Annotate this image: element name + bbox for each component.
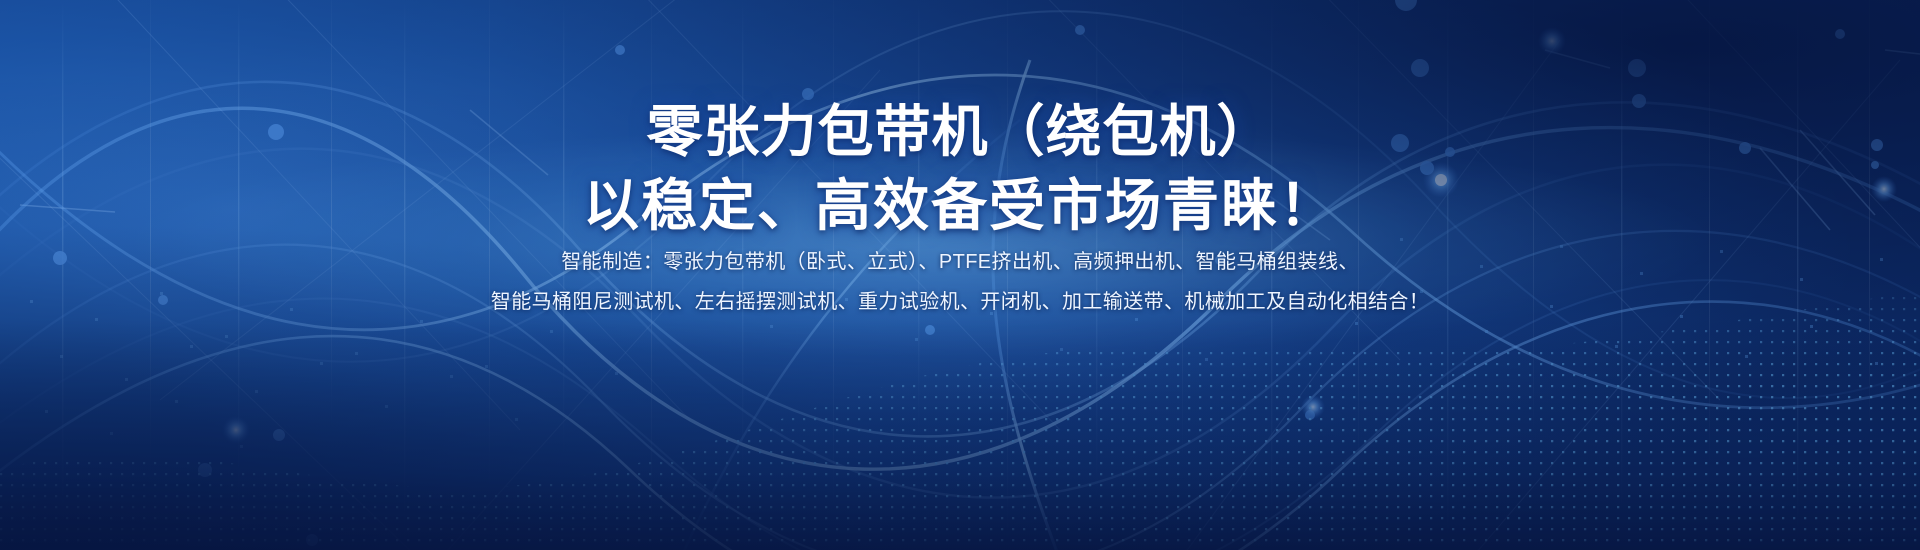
headline-line-2: 以稳定、高效备受市场青睐！ (0, 170, 1920, 242)
tech-banner: 零张力包带机（绕包机） 以稳定、高效备受市场青睐！ 智能制造：零张力包带机（卧式… (0, 0, 1920, 550)
subtitle-line-1: 智能制造：零张力包带机（卧式、立式）、PTFE挤出机、高频押出机、智能马桶组装线… (0, 248, 1920, 276)
subtitle-line-2: 智能马桶阻尼测试机、左右摇摆测试机、重力试验机、开闭机、加工输送带、机械加工及自… (0, 288, 1920, 316)
headline-line-1: 零张力包带机（绕包机） (0, 96, 1920, 168)
